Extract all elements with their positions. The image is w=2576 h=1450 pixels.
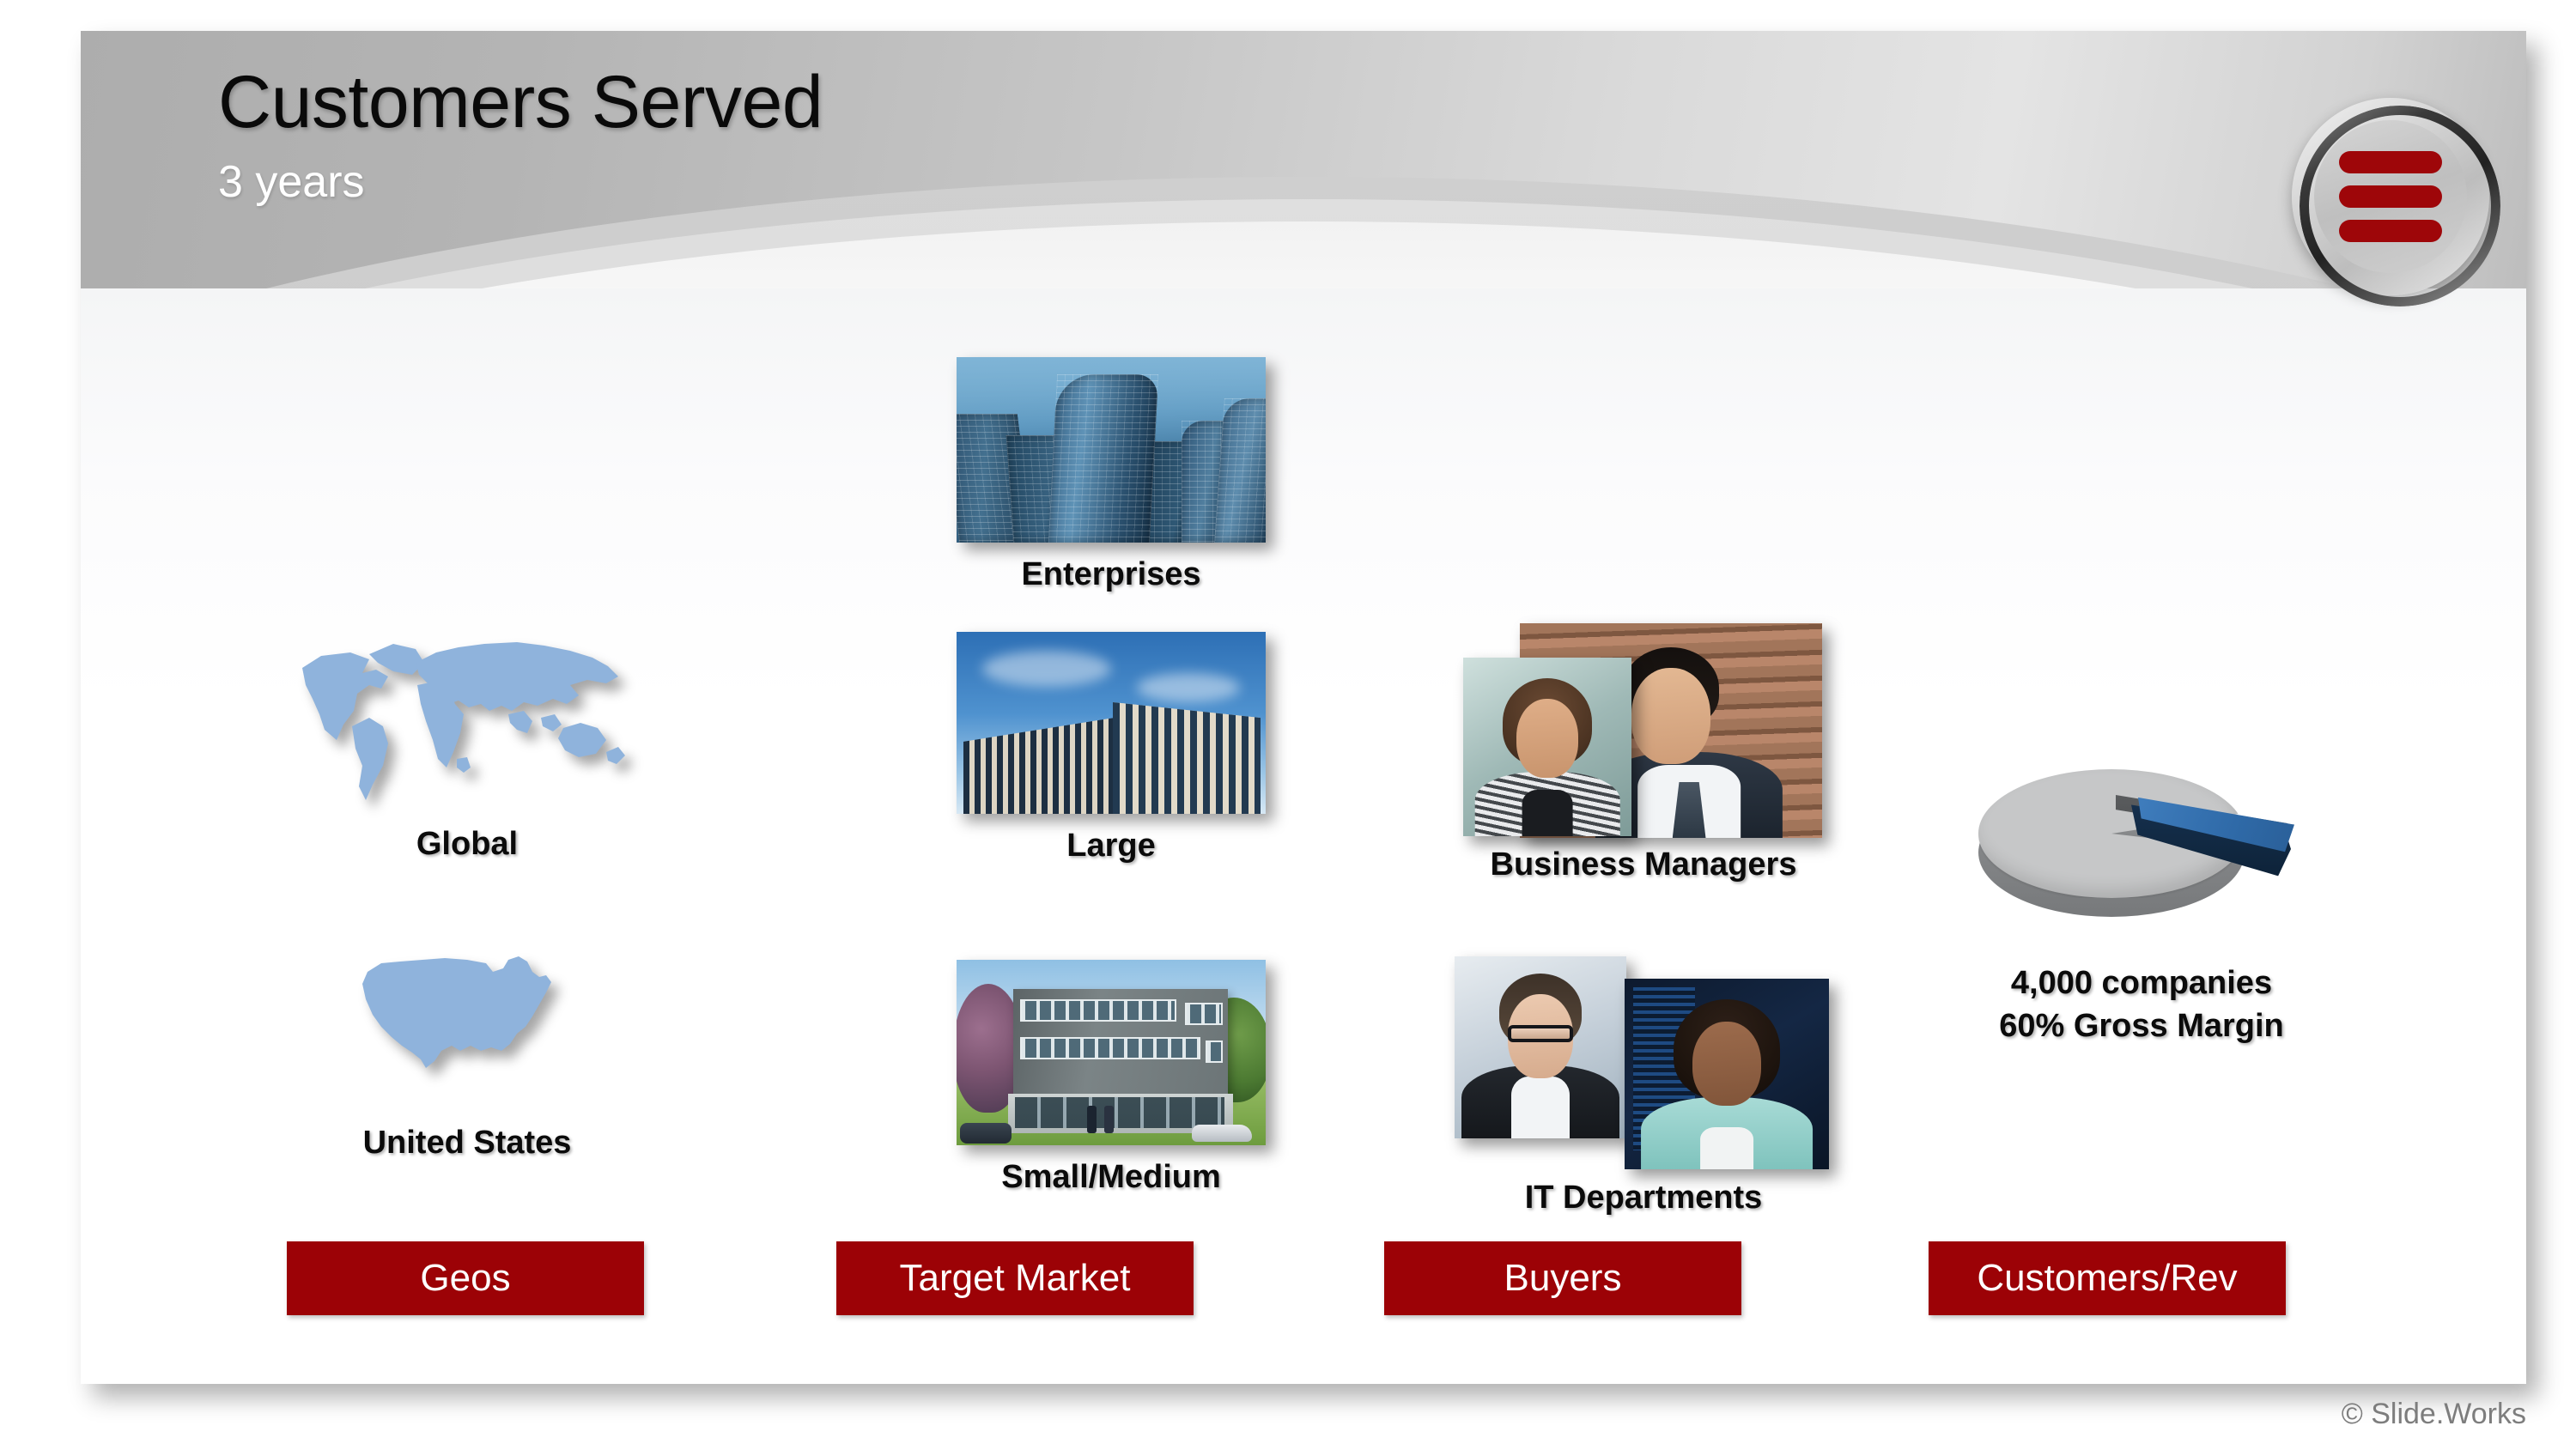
car-left <box>960 1123 1012 1144</box>
cloud-2 <box>1137 673 1240 702</box>
building-main-tower <box>1048 374 1158 543</box>
category-button-target-market[interactable]: Target Market <box>836 1241 1194 1315</box>
pie-caption: 4,000 companies 60% Gross Margin <box>1999 962 2284 1047</box>
low-rise-building-photo <box>957 960 1266 1145</box>
pie-caption-line2: 60% Gross Margin <box>1999 1004 2284 1047</box>
category-button-geos[interactable]: Geos <box>287 1241 644 1315</box>
logo-bar-3 <box>2339 220 2442 242</box>
office-facade-right <box>1113 702 1261 814</box>
page-title: Customers Served <box>218 65 823 139</box>
caption-business-managers: Business Managers <box>1491 846 1797 883</box>
office-facade-left <box>963 718 1115 814</box>
logo-bar-1 <box>2339 151 2442 173</box>
page-subtitle: 3 years <box>218 160 823 204</box>
cloud-1 <box>982 651 1111 687</box>
cell-customers-rev: 4,000 companies 60% Gross Margin <box>1961 769 2322 1047</box>
window-row-2 <box>1020 1037 1200 1059</box>
it-departments-photos <box>1455 956 1832 1171</box>
cell-small-medium: Small/Medium <box>939 960 1283 1196</box>
caption-global: Global <box>416 826 518 863</box>
caption-united-states: United States <box>363 1125 572 1162</box>
caption-large: Large <box>1066 828 1155 865</box>
caption-small-medium: Small/Medium <box>1001 1159 1221 1196</box>
pie-caption-line1: 4,000 companies <box>1999 962 2284 1004</box>
brand-logo-badge[interactable] <box>2292 98 2489 295</box>
title-block: Customers Served 3 years <box>218 65 823 204</box>
usa-map-icon <box>355 943 579 1089</box>
cell-business-managers: Business Managers <box>1437 623 1850 883</box>
building-body <box>1013 989 1228 1099</box>
cell-it-departments: IT Departments <box>1437 956 1850 1216</box>
footer-copyright: © Slide.Works <box>2342 1398 2526 1450</box>
category-button-buyers[interactable]: Buyers <box>1384 1241 1741 1315</box>
portrait-man-glasses <box>1455 956 1626 1138</box>
office-building-photo <box>957 632 1266 814</box>
person-1 <box>1087 1106 1097 1133</box>
window-row-1b <box>1185 1003 1223 1025</box>
portrait-woman-glass <box>1463 658 1631 836</box>
world-map-icon <box>287 632 647 812</box>
pie-chart <box>1978 769 2305 932</box>
eyeglasses-icon <box>1508 1025 1573 1042</box>
category-button-customers-rev[interactable]: Customers/Rev <box>1929 1241 2286 1315</box>
window-row-2b <box>1206 1040 1223 1063</box>
car-right <box>1192 1125 1252 1142</box>
caption-enterprises: Enterprises <box>1021 556 1200 593</box>
portrait-woman-server <box>1625 979 1829 1169</box>
caption-it-departments: IT Departments <box>1525 1180 1763 1216</box>
hamburger-icon <box>2314 120 2467 273</box>
cell-enterprises: Enterprises <box>939 357 1283 593</box>
logo-bar-2 <box>2339 185 2442 208</box>
cell-united-states: United States <box>338 943 596 1162</box>
person-2 <box>1104 1106 1114 1133</box>
cell-large: Large <box>939 632 1283 865</box>
slide-canvas: Customers Served 3 years <box>81 31 2526 1384</box>
skyscrapers-photo <box>957 357 1266 543</box>
window-row-1 <box>1020 999 1176 1022</box>
business-managers-photos <box>1463 623 1824 838</box>
ground-floor-glass <box>1015 1097 1224 1128</box>
building-6 <box>1214 398 1266 543</box>
cell-global: Global <box>287 632 647 863</box>
